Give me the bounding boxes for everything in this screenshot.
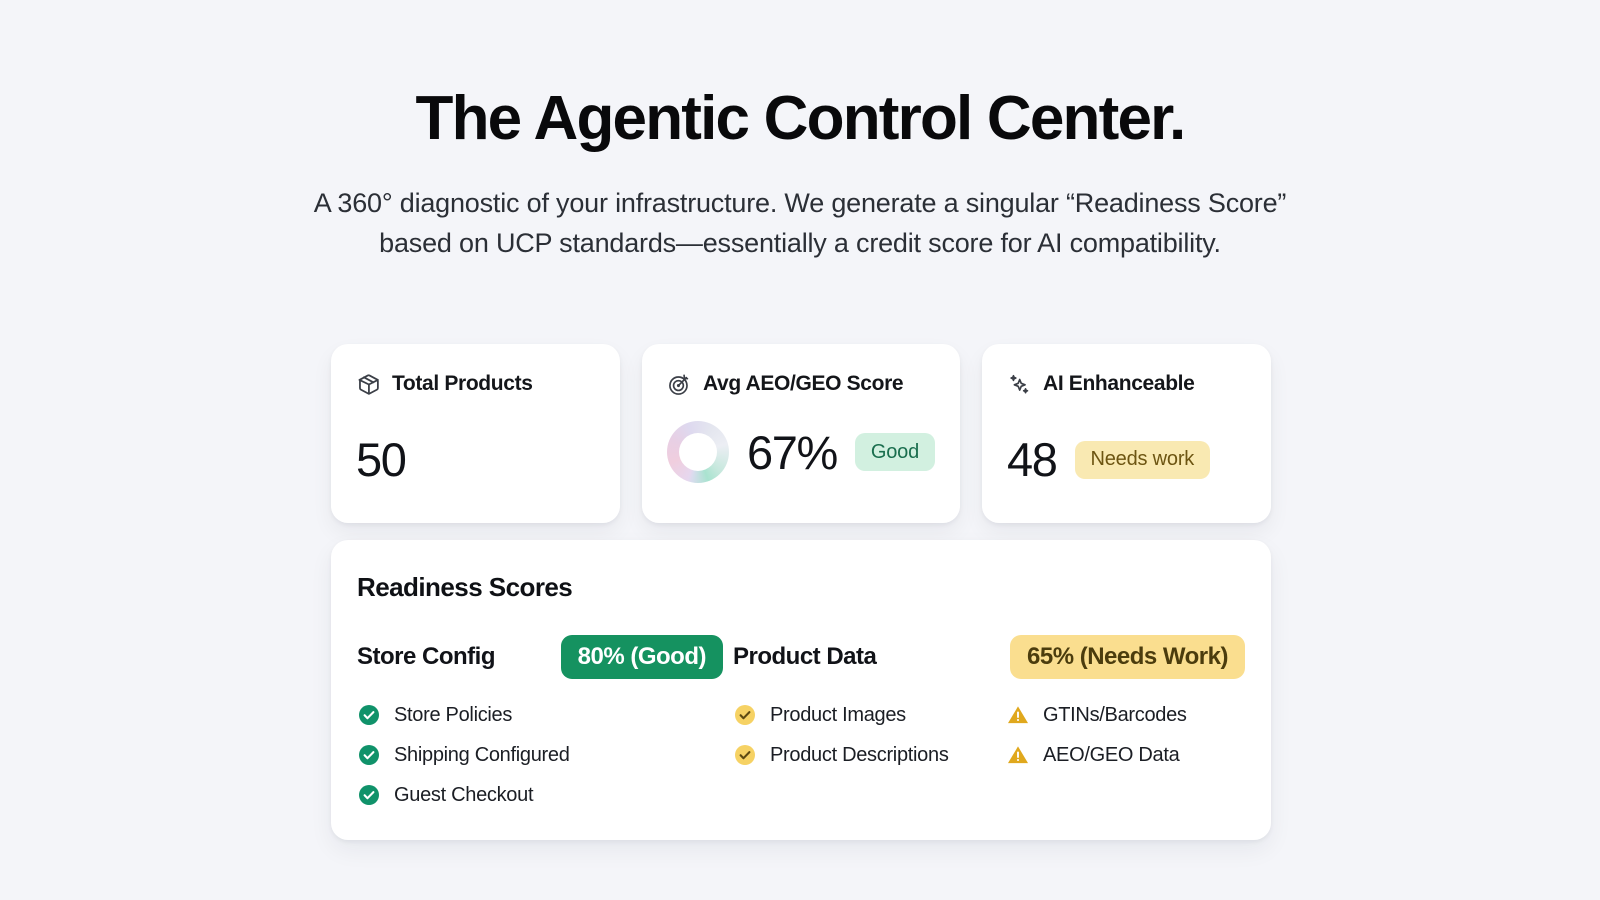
subtitle-line-2: based on UCP standards—essentially a cre… (0, 224, 1600, 264)
section-header: Store Config 80% (Good) (357, 635, 733, 679)
list-item-label: AEO/GEO Data (1043, 744, 1179, 767)
hero-section: The Agentic Control Center. A 360° diagn… (0, 0, 1600, 263)
warning-triangle-icon (1006, 703, 1030, 727)
list-item-label: Product Images (770, 704, 906, 727)
panel-title: Readiness Scores (357, 572, 1245, 603)
check-circle-icon (357, 743, 381, 767)
status-badge: Needs work (1075, 441, 1211, 479)
stat-card-body: 67% Good (667, 421, 935, 483)
list-item[interactable]: Guest Checkout (357, 781, 612, 809)
checklist: Store Policies Shipping Configured (357, 701, 733, 809)
package-icon (356, 372, 381, 397)
list-item-label: Shipping Configured (394, 744, 570, 767)
list-item-label: GTINs/Barcodes (1043, 704, 1187, 727)
list-item[interactable]: Store Policies (357, 701, 612, 729)
stat-card-header: Avg AEO/GEO Score (667, 371, 935, 397)
check-circle-icon (357, 703, 381, 727)
list-item[interactable]: AEO/GEO Data (1006, 741, 1245, 769)
section-title: Product Data (733, 643, 876, 671)
score-donut-chart (667, 421, 729, 483)
stat-card-value: 50 (356, 436, 405, 483)
readiness-dashboard-page: The Agentic Control Center. A 360° diagn… (0, 0, 1600, 900)
stat-card-avg-aeo-geo-score[interactable]: Avg AEO/GEO Score 67% Good (642, 344, 960, 523)
readiness-sections: Store Config 80% (Good) Store P (357, 635, 1245, 809)
stat-card-value: 48 (1007, 436, 1056, 483)
stat-card-header: AI Enhanceable (1007, 371, 1246, 397)
section-score-pill: 65% (Needs Work) (1010, 635, 1245, 679)
subtitle-line-1: A 360° diagnostic of your infrastructure… (0, 184, 1600, 224)
page-title: The Agentic Control Center. (0, 86, 1600, 151)
section-header: Product Data 65% (Needs Work) (733, 635, 1245, 679)
list-item[interactable]: Shipping Configured (357, 741, 612, 769)
checklist-column: Product Images Product Descriptions (733, 701, 1006, 769)
readiness-section-product-data: Product Data 65% (Needs Work) P (733, 635, 1245, 809)
page-subtitle: A 360° diagnostic of your infrastructure… (0, 184, 1600, 263)
stat-card-label: Avg AEO/GEO Score (703, 372, 903, 396)
warning-triangle-icon (1006, 743, 1030, 767)
stat-card-body: 50 (356, 436, 595, 483)
list-item[interactable]: Product Descriptions (733, 741, 1006, 769)
sparkles-icon (1007, 372, 1032, 397)
checklist-column: GTINs/Barcodes AEO/GEO Data (1006, 701, 1245, 769)
status-badge: Good (855, 433, 935, 471)
readiness-scores-panel: Readiness Scores Store Config 80% (Good) (331, 540, 1271, 840)
list-item[interactable]: Product Images (733, 701, 1006, 729)
section-title: Store Config (357, 643, 495, 671)
list-item[interactable]: GTINs/Barcodes (1006, 701, 1245, 729)
list-item-label: Product Descriptions (770, 744, 949, 767)
stat-card-header: Total Products (356, 371, 595, 397)
check-circle-icon (733, 703, 757, 727)
check-circle-icon (733, 743, 757, 767)
stat-card-label: AI Enhanceable (1043, 372, 1194, 396)
stat-card-label: Total Products (392, 372, 533, 396)
stat-card-value: 67% (747, 429, 837, 476)
stat-card-total-products[interactable]: Total Products 50 (331, 344, 620, 523)
readiness-section-store-config: Store Config 80% (Good) Store P (357, 635, 733, 809)
list-item-label: Guest Checkout (394, 784, 533, 807)
checklist-column: Store Policies Shipping Configured (357, 701, 612, 809)
target-icon (667, 372, 692, 397)
section-score-pill: 80% (Good) (561, 635, 723, 679)
stat-card-body: 48 Needs work (1007, 436, 1246, 483)
stat-cards-row: Total Products 50 Avg AEO/GEO Score (331, 344, 1271, 523)
stat-card-ai-enhanceable[interactable]: AI Enhanceable 48 Needs work (982, 344, 1271, 523)
checklist: Product Images Product Descriptions (733, 701, 1245, 769)
list-item-label: Store Policies (394, 704, 512, 727)
check-circle-icon (357, 783, 381, 807)
